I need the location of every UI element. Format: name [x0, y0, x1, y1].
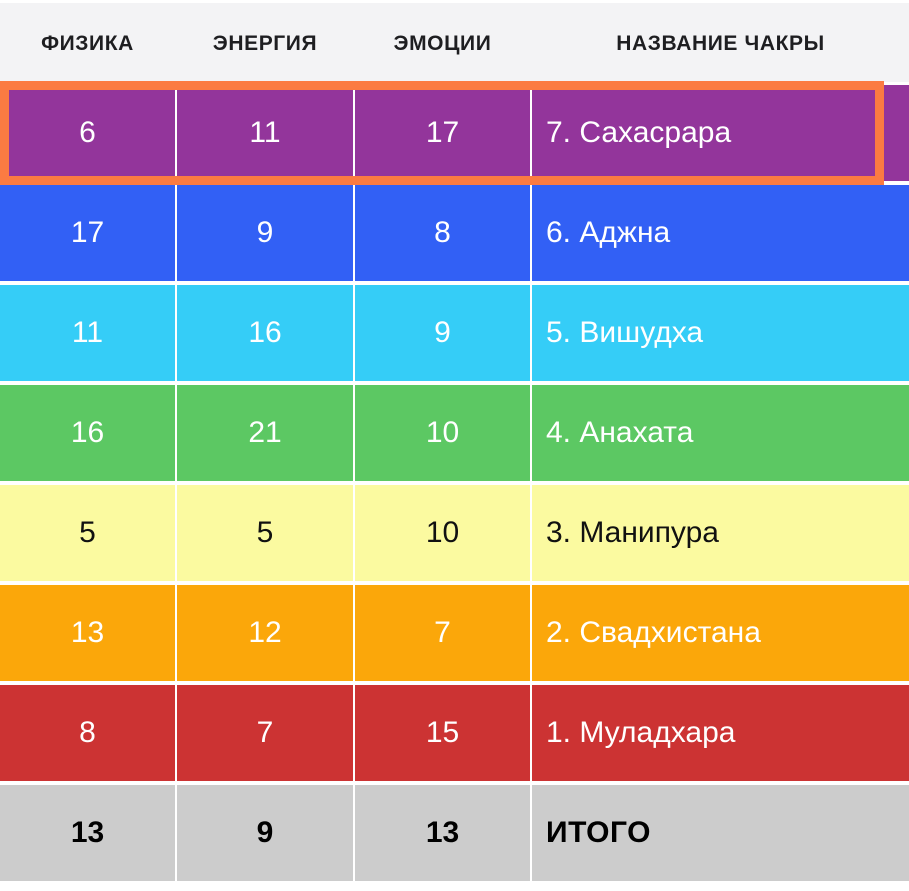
total-cell-label: ИТОГО: [532, 785, 909, 881]
cell-energy: 7: [177, 685, 353, 781]
column-separator: [530, 485, 532, 581]
total-cell-energy: 9: [177, 785, 353, 881]
column-header-physics: ФИЗИКА: [0, 3, 175, 85]
column-separator: [530, 385, 532, 481]
cell-emotions: 9: [355, 285, 530, 381]
cell-chakra-name: 2. Свадхистана: [532, 585, 909, 681]
cell-energy: 5: [177, 485, 353, 581]
column-separator: [353, 585, 355, 681]
cell-physics: 11: [0, 285, 175, 381]
table-row-total[interactable]: 13913ИТОГО: [0, 785, 909, 881]
column-separator: [530, 585, 532, 681]
cell-chakra-name: 6. Аджна: [532, 185, 909, 281]
column-separator: [530, 85, 532, 181]
column-separator: [353, 385, 355, 481]
total-cell-physics: 13: [0, 785, 175, 881]
cell-energy: 21: [177, 385, 353, 481]
column-header-emotions: ЭМОЦИИ: [355, 3, 530, 85]
column-separator: [175, 685, 177, 781]
cell-physics: 13: [0, 585, 175, 681]
column-separator: [353, 485, 355, 581]
column-separator: [353, 685, 355, 781]
table-row[interactable]: 55103. Манипура: [0, 485, 909, 581]
cell-physics: 5: [0, 485, 175, 581]
cell-physics: 6: [0, 85, 175, 181]
cell-emotions: 17: [355, 85, 530, 181]
column-header-energy: ЭНЕРГИЯ: [177, 3, 353, 85]
column-separator: [175, 585, 177, 681]
cell-emotions: 8: [355, 185, 530, 281]
column-separator: [175, 85, 177, 181]
cell-energy: 11: [177, 85, 353, 181]
column-separator: [530, 785, 532, 881]
cell-emotions: 10: [355, 485, 530, 581]
cell-energy: 9: [177, 185, 353, 281]
column-separator: [353, 785, 355, 881]
total-cell-emotions: 13: [355, 785, 530, 881]
cell-physics: 17: [0, 185, 175, 281]
cell-emotions: 10: [355, 385, 530, 481]
cell-chakra-name: 7. Сахасрара: [532, 85, 909, 181]
column-separator: [530, 185, 532, 281]
cell-chakra-name: 5. Вишудха: [532, 285, 909, 381]
cell-energy: 12: [177, 585, 353, 681]
table-row[interactable]: 131272. Свадхистана: [0, 585, 909, 681]
column-header-chakra-name: НАЗВАНИЕ ЧАКРЫ: [532, 3, 909, 85]
cell-emotions: 15: [355, 685, 530, 781]
cell-emotions: 7: [355, 585, 530, 681]
table-header-row: ФИЗИКА ЭНЕРГИЯ ЭМОЦИИ НАЗВАНИЕ ЧАКРЫ: [0, 0, 909, 82]
table-row[interactable]: 1621104. Анахата: [0, 385, 909, 481]
cell-chakra-name: 4. Анахата: [532, 385, 909, 481]
column-separator: [353, 285, 355, 381]
chakra-score-table: ФИЗИКА ЭНЕРГИЯ ЭМОЦИИ НАЗВАНИЕ ЧАКРЫ 611…: [0, 0, 909, 891]
cell-chakra-name: 1. Муладхара: [532, 685, 909, 781]
column-separator: [175, 485, 177, 581]
table-row[interactable]: 87151. Муладхара: [0, 685, 909, 781]
cell-physics: 8: [0, 685, 175, 781]
column-separator: [175, 385, 177, 481]
column-separator: [530, 685, 532, 781]
cell-physics: 16: [0, 385, 175, 481]
column-separator: [175, 185, 177, 281]
column-separator: [175, 285, 177, 381]
column-separator: [353, 185, 355, 281]
table-row[interactable]: 17986. Аджна: [0, 185, 909, 281]
table-row[interactable]: 111695. Вишудха: [0, 285, 909, 381]
column-separator: [353, 85, 355, 181]
table-row[interactable]: 611177. Сахасрара: [0, 85, 909, 181]
cell-chakra-name: 3. Манипура: [532, 485, 909, 581]
column-separator: [175, 785, 177, 881]
cell-energy: 16: [177, 285, 353, 381]
column-separator: [530, 285, 532, 381]
